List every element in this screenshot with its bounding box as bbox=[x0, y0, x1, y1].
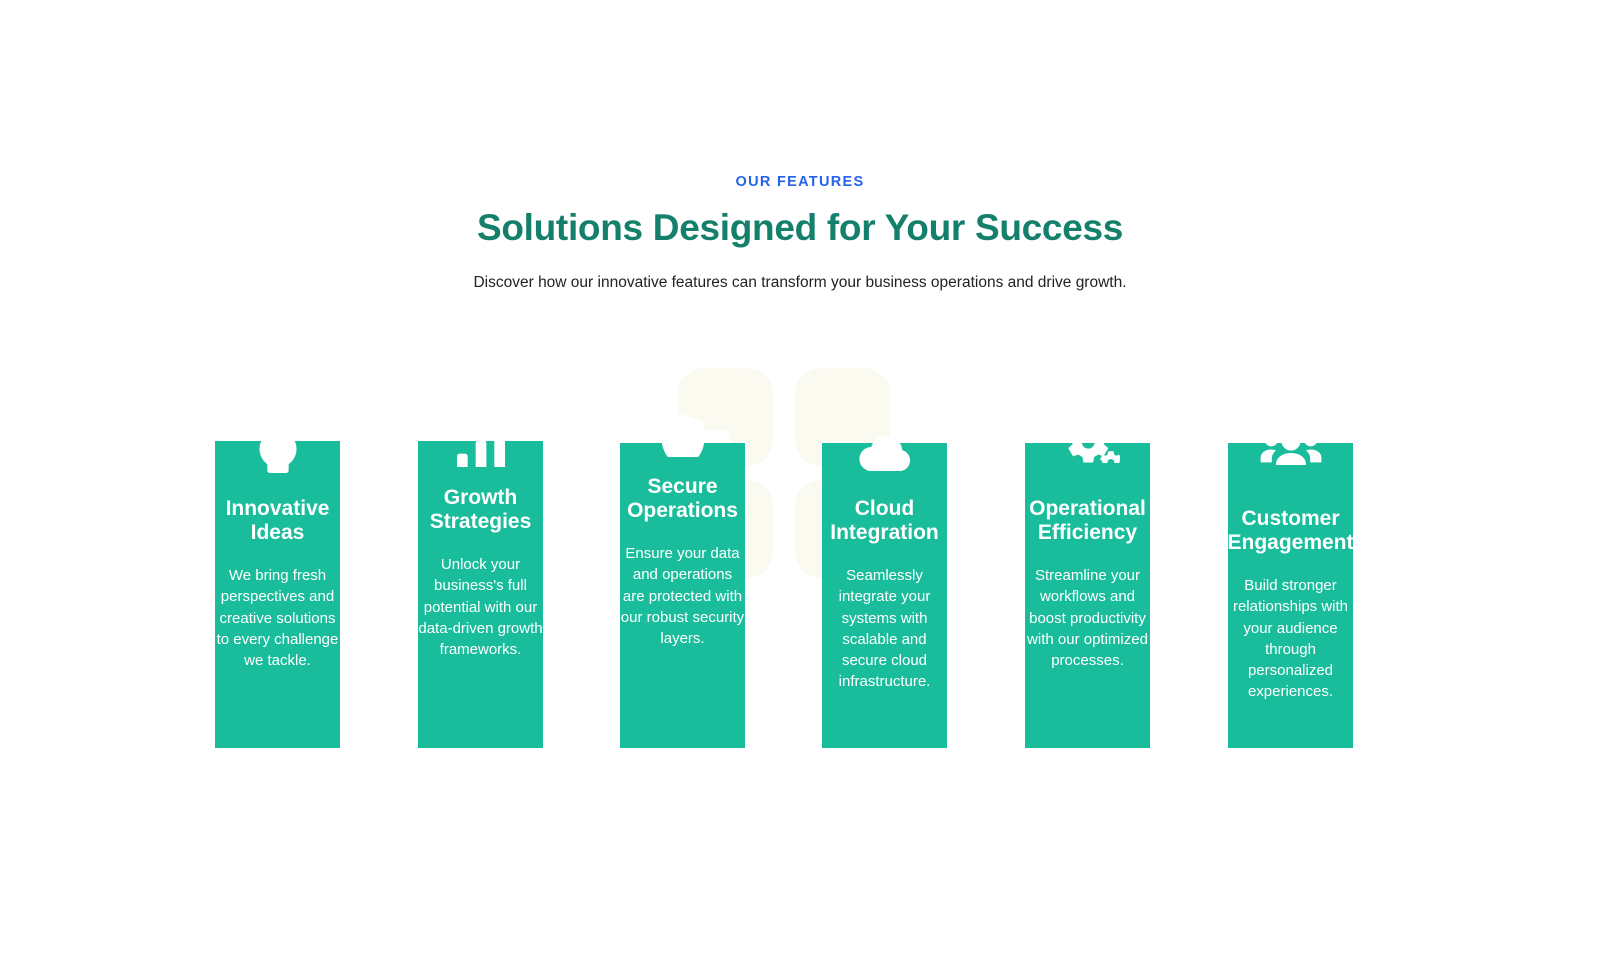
feature-card[interactable]: Growth Strategies Unlock your business's… bbox=[418, 441, 543, 748]
feature-card-title-line1: Operational bbox=[1029, 497, 1146, 520]
feature-card-description: Ensure your data and operations are prot… bbox=[620, 543, 745, 649]
feature-card[interactable]: Secure Operations Ensure your data and o… bbox=[620, 443, 745, 748]
feature-card-description: Seamlessly integrate your systems with s… bbox=[822, 565, 947, 693]
feature-card-title: Secure Operations bbox=[627, 475, 738, 523]
cloud-icon bbox=[853, 423, 917, 471]
shield-icon bbox=[651, 409, 715, 457]
chart-growth-icon bbox=[449, 419, 513, 467]
feature-card-title-line2: Integration bbox=[830, 521, 939, 545]
feature-card-title-line1: Customer bbox=[1241, 507, 1339, 530]
feature-card-title: Customer Engagement bbox=[1227, 507, 1353, 555]
feature-card-title: Operational Efficiency bbox=[1029, 497, 1146, 545]
feature-card-title-line1: Secure bbox=[647, 475, 717, 498]
feature-card[interactable]: Operational Efficiency Streamline your w… bbox=[1025, 443, 1150, 748]
feature-card[interactable]: Customer Engagement Build stronger relat… bbox=[1228, 443, 1353, 748]
feature-card-title-line2: Engagement bbox=[1227, 531, 1353, 555]
feature-card[interactable]: Cloud Integration Seamlessly integrate y… bbox=[822, 443, 947, 748]
feature-card-description: Build stronger relationships with your a… bbox=[1228, 575, 1353, 703]
feature-card-description: Unlock your business's full potential wi… bbox=[418, 554, 543, 660]
feature-card-title-line1: Cloud bbox=[855, 497, 914, 520]
feature-card-title-line2: Ideas bbox=[226, 521, 330, 545]
features-section: OUR FEATURES Solutions Designed for Your… bbox=[0, 0, 1600, 978]
feature-card-title-line2: Operations bbox=[627, 499, 738, 523]
feature-card-title: Innovative Ideas bbox=[226, 497, 330, 545]
feature-card[interactable]: Innovative Ideas We bring fresh perspect… bbox=[215, 441, 340, 748]
lightbulb-icon bbox=[246, 425, 310, 473]
feature-card-title-line1: Growth bbox=[444, 486, 518, 509]
feature-card-title-line1: Innovative bbox=[226, 497, 330, 520]
gears-icon bbox=[1056, 415, 1120, 463]
users-icon bbox=[1259, 417, 1323, 465]
feature-card-title: Cloud Integration bbox=[830, 497, 939, 545]
feature-card-title: Growth Strategies bbox=[430, 486, 532, 534]
feature-card-title-line2: Efficiency bbox=[1029, 521, 1146, 545]
feature-card-list: Innovative Ideas We bring fresh perspect… bbox=[0, 0, 1600, 978]
feature-card-description: We bring fresh perspectives and creative… bbox=[215, 565, 340, 671]
feature-card-title-line2: Strategies bbox=[430, 510, 532, 534]
feature-card-description: Streamline your workflows and boost prod… bbox=[1025, 565, 1150, 671]
